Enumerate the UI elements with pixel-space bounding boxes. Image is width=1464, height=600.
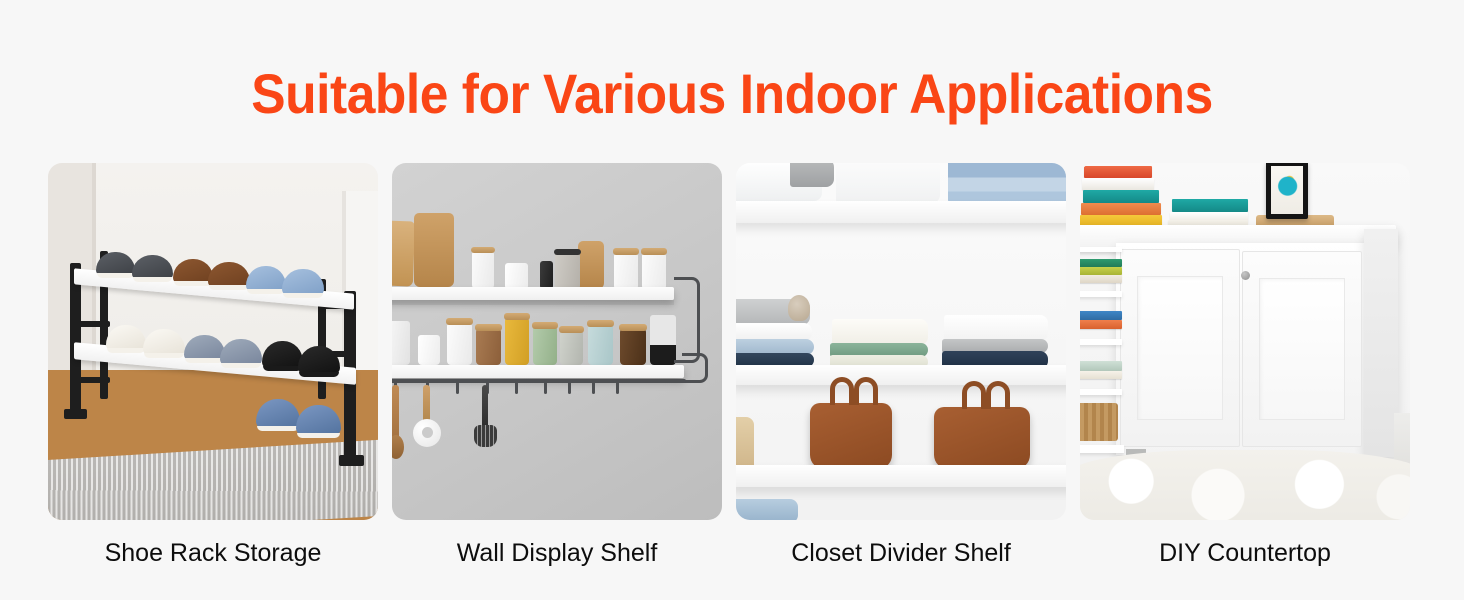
handbag-left-handle-1 xyxy=(830,377,854,405)
rack-rail-left-low xyxy=(78,377,110,383)
jar-low-4-lid xyxy=(475,324,502,331)
rack-leg-left xyxy=(70,263,81,413)
wall-shelf-top xyxy=(392,287,674,300)
image-shoe-rack-storage xyxy=(48,163,378,520)
shoe-grey-1 xyxy=(96,252,135,278)
handbag-right-handle-2 xyxy=(986,381,1010,409)
rail-hook-3 xyxy=(456,382,459,394)
handbag-right xyxy=(934,407,1030,469)
jar-top-4 xyxy=(555,253,580,290)
fluffy-rug xyxy=(1080,450,1410,520)
open-shelf-5 xyxy=(1080,445,1124,453)
wooden-spoon-bowl xyxy=(392,435,404,459)
shelf-book-blue xyxy=(1080,311,1122,320)
jar-top-5 xyxy=(614,253,638,290)
rail-hook-7 xyxy=(568,382,571,394)
jar-low-7-lid xyxy=(559,326,584,333)
open-shelf-3 xyxy=(1080,339,1122,345)
open-shelf-1 xyxy=(1080,247,1122,252)
book-teal xyxy=(1083,190,1159,203)
caption-row: Shoe Rack Storage Wall Display Shelf Clo… xyxy=(48,520,1416,586)
panel-diy-countertop xyxy=(1080,163,1410,520)
jar-low-7 xyxy=(560,331,583,365)
jar-low-3 xyxy=(447,323,472,365)
panel-wall-display-shelf xyxy=(392,163,722,520)
picture-artwork xyxy=(1271,166,1303,214)
jar-low-1 xyxy=(392,321,410,365)
shoe-blue-2 xyxy=(282,269,324,298)
jar-low-3-lid xyxy=(446,318,473,325)
image-wall-display-shelf xyxy=(392,163,722,520)
cabinet-door-left[interactable] xyxy=(1120,249,1240,447)
towel-stack-top-cream xyxy=(836,163,940,203)
shoe-brown-2 xyxy=(208,262,250,290)
caption-wall-display-shelf: Wall Display Shelf xyxy=(392,520,722,586)
shoe-brown-1 xyxy=(173,259,213,286)
shelf-bracket-top xyxy=(674,277,700,363)
book-white xyxy=(1082,178,1154,190)
jar-top-1-lid xyxy=(471,247,495,253)
spatula-head-icon xyxy=(474,425,497,447)
towel-grey-drape xyxy=(790,163,834,187)
jar-top-6-lid xyxy=(641,248,667,255)
cutting-board-3 xyxy=(578,241,604,289)
cabinet-side xyxy=(1364,229,1398,457)
rack-rail-left-mid xyxy=(76,321,110,327)
shoe-black-1 xyxy=(262,341,303,371)
jar-low-9 xyxy=(620,329,646,365)
jar-top-1 xyxy=(472,251,494,289)
page-title: Suitable for Various Indoor Applications xyxy=(59,62,1406,126)
promo-banner: Suitable for Various Indoor Applications xyxy=(0,0,1464,600)
jar-low-4 xyxy=(476,329,501,365)
wall-shelf-bottom xyxy=(392,365,684,378)
shelf-book-cream xyxy=(1080,275,1122,283)
white-ladle-hole xyxy=(422,427,433,438)
jar-low-5-lid xyxy=(504,313,530,320)
caption-shoe-rack-storage: Shoe Rack Storage xyxy=(48,520,378,586)
rail-hook-5 xyxy=(515,382,518,394)
jar-top-3 xyxy=(540,261,553,290)
panel-grid: Shoe Rack Storage xyxy=(48,163,1416,520)
jar-low-6 xyxy=(533,327,557,365)
handbag-right-handle-1 xyxy=(962,381,986,409)
shoe-white-2 xyxy=(143,329,185,358)
wooden-spoon-icon xyxy=(392,385,399,441)
shoe-lightblue-1 xyxy=(184,335,225,363)
rack-foot-right xyxy=(339,455,364,466)
shelf-bracket-bottom xyxy=(682,353,708,383)
book-orange xyxy=(1081,203,1161,215)
open-shelf-2 xyxy=(1080,291,1122,297)
image-diy-countertop xyxy=(1080,163,1410,520)
handbag-left-handle-2 xyxy=(854,377,878,405)
shelf-book-green xyxy=(1080,259,1122,267)
shelf-book-mint xyxy=(1080,361,1122,371)
shoe-lightblue-2 xyxy=(220,339,262,368)
jar-low-6-lid xyxy=(532,322,558,329)
cabinet-door-right[interactable] xyxy=(1242,251,1362,447)
panel-shoe-rack-storage: Shoe Rack Storage xyxy=(48,163,378,520)
towel-stack-right-white xyxy=(944,315,1048,341)
closet-shelf-3 xyxy=(736,465,1066,487)
towel-bottom-blue xyxy=(736,499,798,520)
shoe-grey-2 xyxy=(132,255,173,282)
jar-top-5-lid xyxy=(613,248,639,255)
caption-diy-countertop: DIY Countertop xyxy=(1080,520,1410,586)
towel-stack-center-cream xyxy=(832,319,928,345)
utensil-rail xyxy=(392,379,686,383)
shelf-book-orange2 xyxy=(1080,320,1122,329)
shelf-book-paper xyxy=(1080,371,1122,379)
rail-hook-6 xyxy=(544,382,547,394)
closet-shelf-2 xyxy=(736,365,1066,385)
shoe-blue-1 xyxy=(246,266,286,294)
caption-closet-divider-shelf: Closet Divider Shelf xyxy=(736,520,1066,586)
cabinet-knob-icon[interactable] xyxy=(1241,271,1250,280)
jar-low-9-lid xyxy=(619,324,647,331)
book-teal-2 xyxy=(1172,199,1248,212)
jar-low-8-lid xyxy=(587,320,614,327)
handbag-left xyxy=(810,403,892,469)
rail-hook-8 xyxy=(592,382,595,394)
book-red xyxy=(1084,166,1152,178)
jar-top-4-lid xyxy=(554,249,581,255)
towel-stack-top-blue xyxy=(948,163,1066,203)
shelf-book-yellowgreen xyxy=(1080,267,1122,275)
jar-low-8 xyxy=(588,325,613,365)
shoe-white-1 xyxy=(106,325,146,353)
closet-shelf-1 xyxy=(736,201,1066,223)
image-closet-divider-shelf xyxy=(736,163,1066,520)
jar-low-2 xyxy=(418,335,440,365)
open-shelf-4 xyxy=(1080,389,1122,395)
jar-top-2 xyxy=(505,263,528,290)
picture-frame xyxy=(1266,163,1308,219)
jar-low-5 xyxy=(505,318,529,365)
panel-closet-divider-shelf xyxy=(736,163,1066,520)
cutting-board-1 xyxy=(392,220,415,286)
rail-hook-9 xyxy=(616,382,619,394)
woven-basket xyxy=(1080,403,1118,441)
towel-teddy-bear xyxy=(788,295,810,321)
rack-foot-left xyxy=(64,409,87,419)
jar-top-6 xyxy=(642,253,666,290)
cutting-board-2 xyxy=(414,213,454,287)
jar-low-10 xyxy=(650,315,676,365)
